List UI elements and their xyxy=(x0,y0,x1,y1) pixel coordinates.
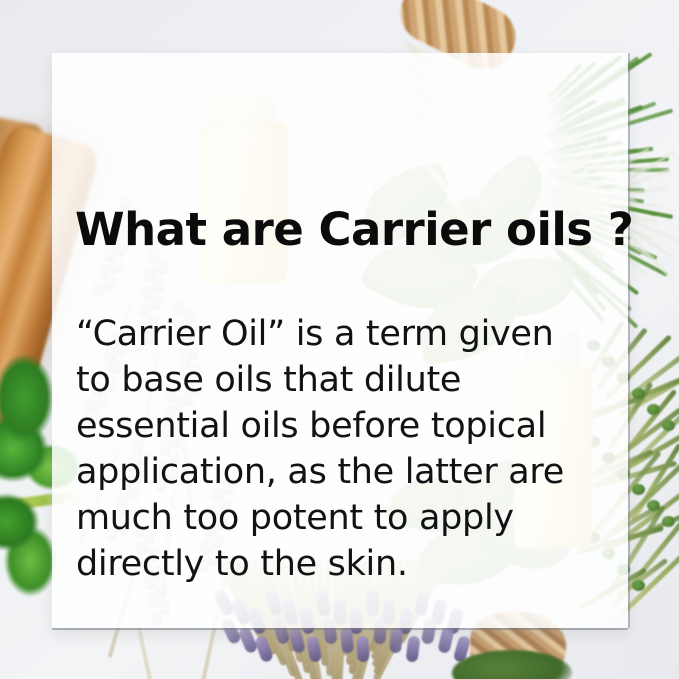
page-title: What are Carrier oils ? xyxy=(75,203,633,256)
body-line: to base oils that dilute xyxy=(76,357,616,403)
content-card: What are Carrier oils ? “Carrier Oil” is… xyxy=(52,53,628,628)
body-line: essential oils before topical xyxy=(76,403,616,449)
body-line: much too potent to apply xyxy=(76,495,616,541)
body-paragraph: “Carrier Oil” is a term given to base oi… xyxy=(76,311,616,587)
card-inner: What are Carrier oils ? “Carrier Oil” is… xyxy=(52,53,628,628)
body-line: application, as the latter are xyxy=(76,449,616,495)
infographic-image: What are Carrier oils ? “Carrier Oil” is… xyxy=(0,0,679,679)
body-line: “Carrier Oil” is a term given xyxy=(76,311,616,357)
body-line: directly to the skin. xyxy=(76,541,616,587)
